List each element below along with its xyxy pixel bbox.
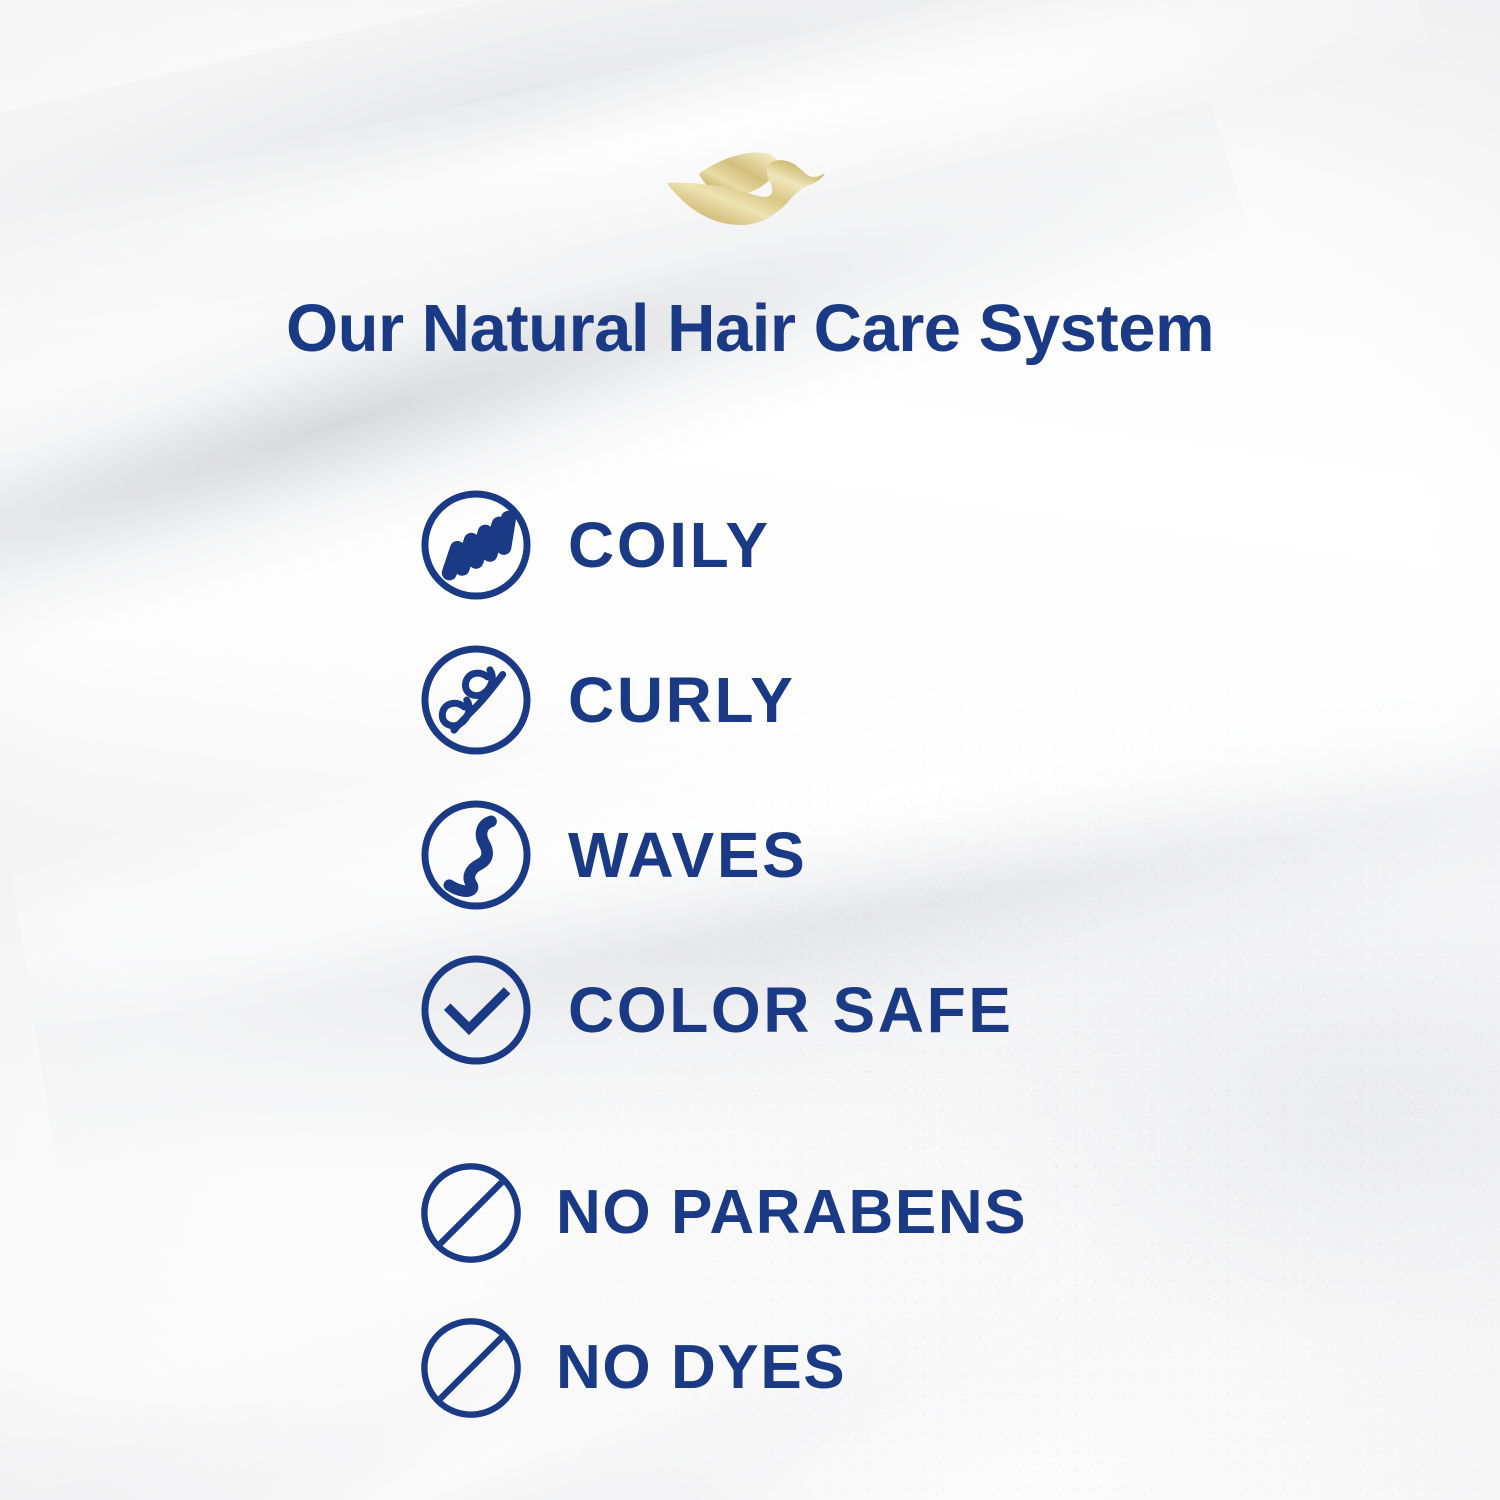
feature-label-curly: CURLY bbox=[568, 668, 796, 732]
feature-label-no-parabens: NO PARABENS bbox=[556, 1182, 1027, 1244]
product-infographic-canvas: Our Natural Hair Care System COILY bbox=[0, 0, 1500, 1500]
feature-label-coily: COILY bbox=[568, 513, 771, 577]
feature-label-waves: WAVES bbox=[568, 823, 807, 887]
checkmark-circle-icon bbox=[418, 952, 534, 1068]
infographic-content: Our Natural Hair Care System COILY bbox=[0, 0, 1500, 1500]
feature-row-no-parabens: NO PARABENS bbox=[418, 1155, 1418, 1271]
wave-squiggle-icon bbox=[418, 797, 534, 913]
feature-label-no-dyes: NO DYES bbox=[556, 1337, 846, 1399]
page-title: Our Natural Hair Care System bbox=[0, 293, 1500, 365]
prohibition-slash-icon bbox=[418, 1315, 524, 1421]
coil-zigzag-icon bbox=[418, 487, 534, 603]
feature-row-color-safe: COLOR SAFE bbox=[418, 952, 1418, 1068]
feature-row-coily: COILY bbox=[418, 487, 1418, 603]
feature-label-color-safe: COLOR SAFE bbox=[568, 978, 1014, 1042]
feature-row-waves: WAVES bbox=[418, 797, 1418, 913]
feature-list: COILY CURLY WAVES bbox=[418, 487, 1418, 1426]
brand-logo bbox=[0, 152, 1500, 226]
dove-bird-logo-icon bbox=[661, 152, 839, 226]
curl-spiral-icon bbox=[418, 642, 534, 758]
feature-row-no-dyes: NO DYES bbox=[418, 1310, 1418, 1426]
feature-row-curly: CURLY bbox=[418, 642, 1418, 758]
prohibition-slash-icon bbox=[418, 1160, 524, 1266]
